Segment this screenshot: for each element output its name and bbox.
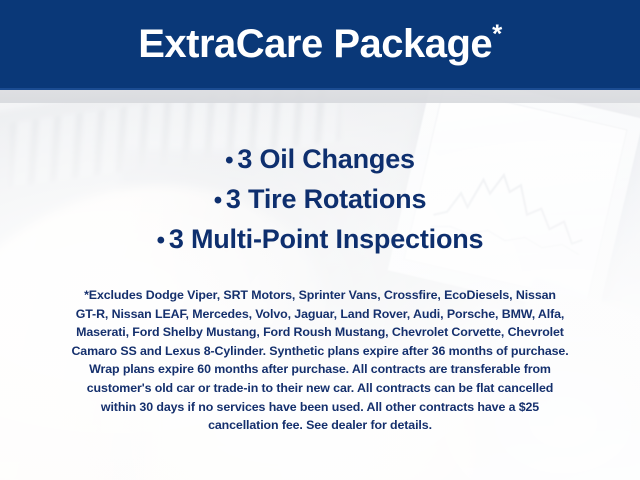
disclaimer-line: within 30 days if no services have been … [20,398,620,417]
header-banner: ExtraCare Package* [0,0,640,90]
feature-item-oil-changes: •3 Oil Changes [0,140,640,180]
disclaimer-line: Wrap plans expire 60 months after purcha… [20,360,620,379]
disclaimer-line: GT-R, Nissan LEAF, Mercedes, Volvo, Jagu… [20,305,620,324]
feature-label: 3 Oil Changes [237,144,414,174]
feature-item-multi-point-inspections: •3 Multi-Point Inspections [0,220,640,260]
banner-underline-strip [0,90,640,103]
bullet-icon: • [157,227,165,254]
disclaimer-line: cancellation fee. See dealer for details… [20,416,620,435]
disclaimer-line: Camaro SS and Lexus 8-Cylinder. Syntheti… [20,342,620,361]
feature-item-tire-rotations: •3 Tire Rotations [0,180,640,220]
page-title: ExtraCare Package* [138,24,502,64]
extracare-package-ad: ExtraCare Package* •3 Oil Changes •3 Tir… [0,0,640,480]
page-title-text: ExtraCare Package [138,22,492,66]
bullet-icon: • [214,187,222,214]
feature-list: •3 Oil Changes •3 Tire Rotations •3 Mult… [0,140,640,260]
title-asterisk: * [492,19,502,49]
bullet-icon: • [225,147,233,174]
disclaimer-line: Maserati, Ford Shelby Mustang, Ford Rous… [20,323,620,342]
disclaimer-text: *Excludes Dodge Viper, SRT Motors, Sprin… [20,286,620,435]
feature-label: 3 Multi-Point Inspections [169,224,484,254]
feature-label: 3 Tire Rotations [226,184,426,214]
disclaimer-line: *Excludes Dodge Viper, SRT Motors, Sprin… [20,286,620,305]
disclaimer-line: customer's old car or trade-in to their … [20,379,620,398]
